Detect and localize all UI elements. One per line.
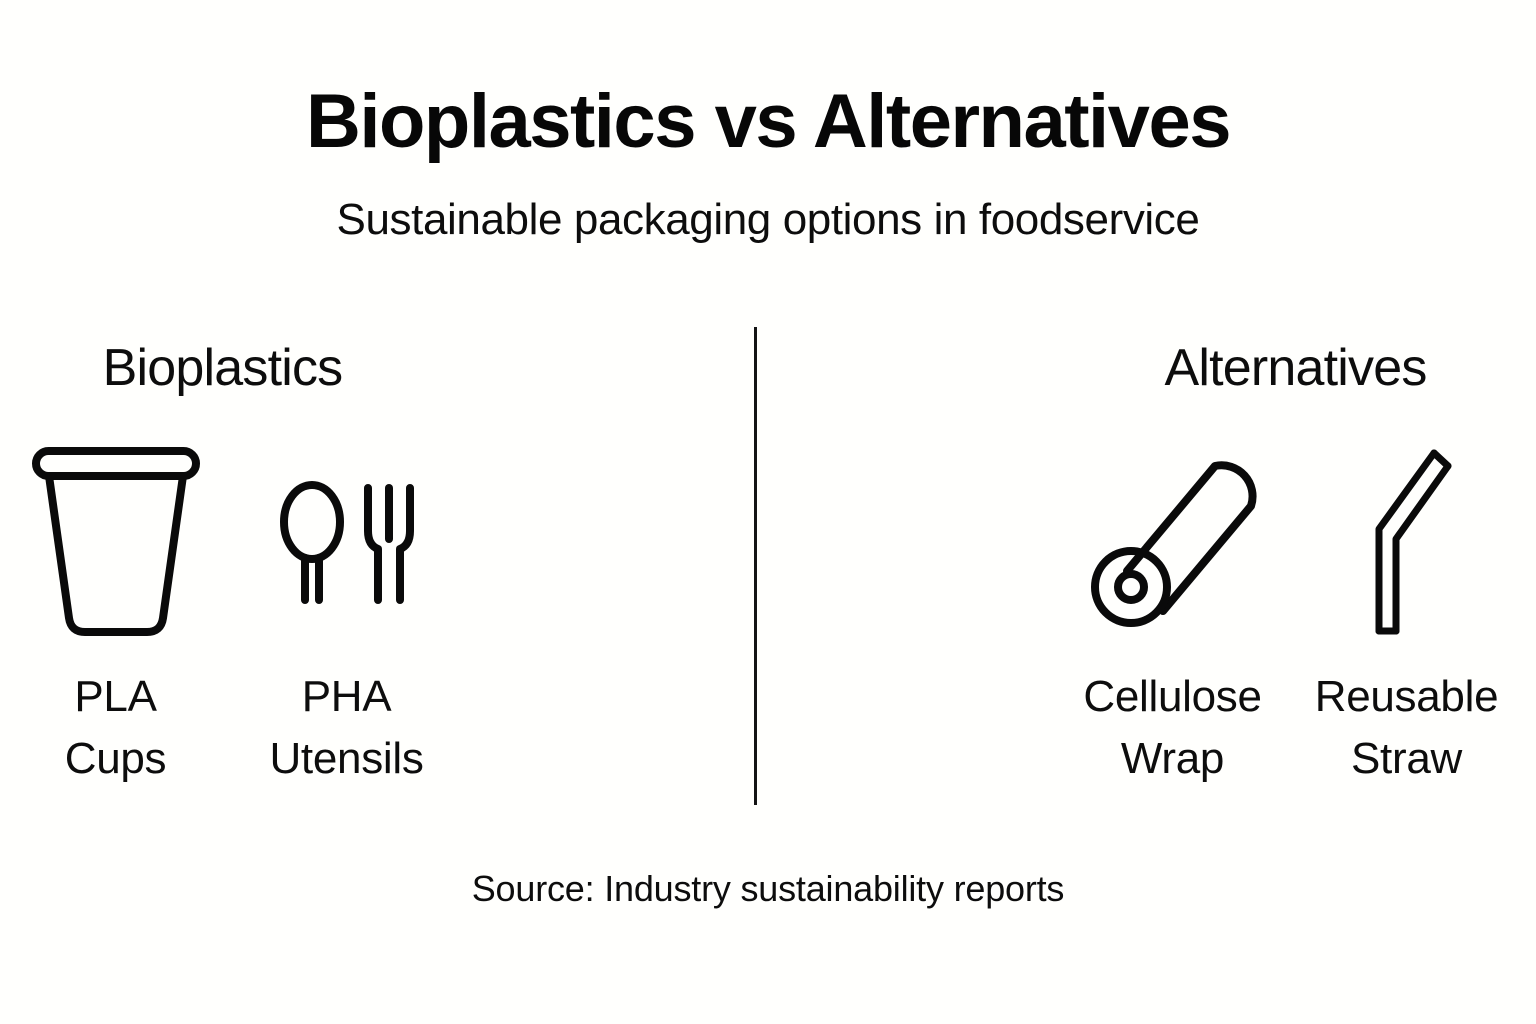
item-pla-cups[interactable]: PLA Cups (0, 440, 231, 789)
item-pha-utensils[interactable]: PHA Utensils (231, 440, 462, 789)
item-reusable-straw[interactable]: Reusable Straw (1291, 440, 1523, 789)
column-items-bioplastics: PLA Cups (0, 394, 755, 789)
item-label-reusable-straw: Reusable Straw (1315, 644, 1499, 789)
column-bioplastics: Bioplastics (0, 330, 755, 789)
column-heading-bioplastics: Bioplastics (0, 330, 755, 394)
item-label-line2: Cups (65, 734, 167, 783)
column-divider (754, 327, 757, 805)
comparison-columns: Bioplastics (0, 330, 1536, 810)
item-label-pha-utensils: PHA Utensils (269, 644, 423, 789)
infographic-slide: Bioplastics vs Alternatives Sustainable … (0, 0, 1536, 1024)
cup-icon (28, 440, 204, 644)
column-items-alternatives: Cellulose Wrap (755, 394, 1536, 789)
header: Bioplastics vs Alternatives Sustainable … (0, 84, 1536, 242)
item-label-line2: Utensils (269, 734, 423, 783)
paper-roll-icon (1083, 440, 1263, 644)
column-heading-alternatives: Alternatives (755, 330, 1536, 394)
page-title: Bioplastics vs Alternatives (0, 84, 1536, 160)
item-label-line2: Wrap (1121, 734, 1224, 783)
utensils-icon (272, 440, 422, 644)
item-label-pla-cups: PLA Cups (65, 644, 167, 789)
page-subtitle: Sustainable packaging options in foodser… (0, 160, 1536, 242)
item-label-line1: Reusable (1315, 672, 1499, 721)
source-note: Source: Industry sustainability reports (0, 868, 1536, 910)
column-alternatives: Alternatives (755, 330, 1536, 789)
item-label-line1: PHA (302, 672, 392, 721)
item-label-line1: Cellulose (1083, 672, 1261, 721)
item-label-cellulose-wrap: Cellulose Wrap (1083, 644, 1261, 789)
bendy-straw-icon (1349, 440, 1465, 644)
item-cellulose-wrap[interactable]: Cellulose Wrap (1055, 440, 1291, 789)
item-label-line1: PLA (74, 672, 156, 721)
item-label-line2: Straw (1351, 734, 1462, 783)
